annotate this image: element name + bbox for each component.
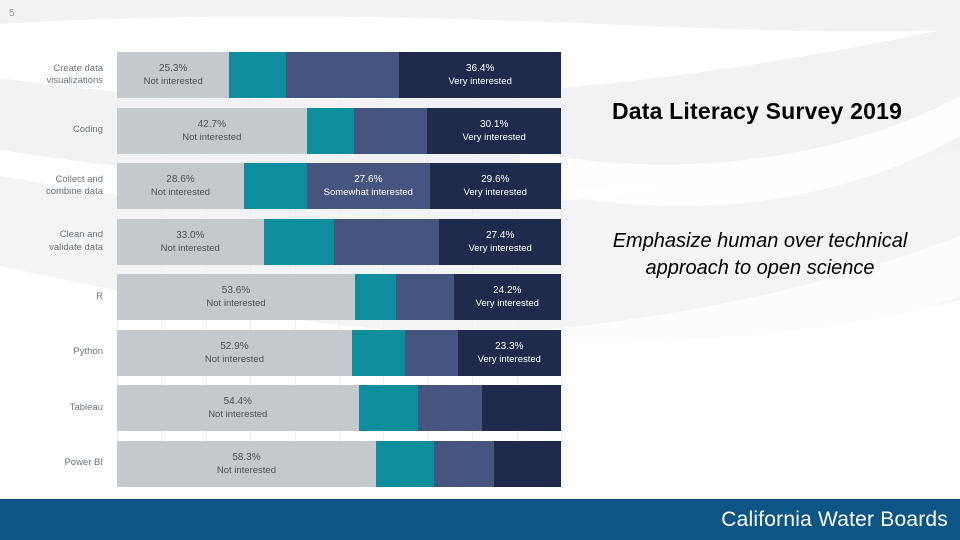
bar-segment-category: Very interested [462, 131, 525, 144]
bar-segment-very[interactable] [494, 441, 561, 487]
chart-bar: 25.3%Not interested36.4%Very interested [117, 52, 561, 98]
bar-segment-percent: 29.6% [481, 173, 509, 186]
chart-bar: 42.7%Not interested30.1%Very interested [117, 108, 561, 154]
bar-segment-category: Not interested [151, 186, 210, 199]
chart-bar: 54.4%Not interested [117, 385, 561, 431]
bar-segment-not[interactable]: 53.6%Not interested [117, 274, 355, 320]
bar-segment-percent: 27.4% [486, 229, 514, 242]
bar-segment-category: Somewhat interested [324, 186, 413, 199]
chart-row: Tableau54.4%Not interested [33, 385, 561, 431]
chart-row-label: Create data visualizations [33, 52, 109, 98]
bar-segment-category: Not interested [205, 353, 264, 366]
bar-segment-percent: 58.3% [232, 451, 260, 464]
bar-segment-somewhat[interactable] [334, 219, 440, 265]
bar-segment-not[interactable]: 28.6%Not interested [117, 163, 244, 209]
bar-segment-category: Very interested [476, 297, 539, 310]
bar-segment-percent: 33.0% [176, 229, 204, 242]
chart-row-label: Power BI [33, 441, 109, 487]
bar-segment-percent: 30.1% [480, 118, 508, 131]
bar-segment-category: Not interested [144, 75, 203, 88]
bar-segment-not[interactable]: 52.9%Not interested [117, 330, 352, 376]
bar-segment-percent: 53.6% [222, 284, 250, 297]
bar-segment-very[interactable]: 27.4%Very interested [439, 219, 561, 265]
bar-segment-percent: 23.3% [495, 340, 523, 353]
chart-row-label: Collect and combine data [33, 163, 109, 209]
bar-segment-percent: 54.4% [224, 395, 252, 408]
footer-band: California Water Boards [0, 499, 960, 540]
bar-segment-very[interactable] [482, 385, 561, 431]
bar-segment-slightly[interactable] [229, 52, 286, 98]
bar-segment-category: Not interested [208, 408, 267, 421]
bar-segment-slightly[interactable] [264, 219, 334, 265]
bar-segment-slightly[interactable] [307, 108, 354, 154]
bar-segment-very[interactable]: 23.3%Very interested [458, 330, 561, 376]
chart-bar: 28.6%Not interested27.6%Somewhat interes… [117, 163, 561, 209]
bar-segment-not[interactable]: 42.7%Not interested [117, 108, 307, 154]
chart-row: Clean and validate data33.0%Not interest… [33, 219, 561, 265]
bar-segment-category: Very interested [448, 75, 511, 88]
stacked-bar-chart: Create data visualizations25.3%Not inter… [33, 52, 561, 494]
chart-row: Coding42.7%Not interested30.1%Very inter… [33, 108, 561, 154]
bar-segment-percent: 25.3% [159, 62, 187, 75]
bar-segment-slightly[interactable] [359, 385, 419, 431]
bar-segment-not[interactable]: 25.3%Not interested [117, 52, 229, 98]
bar-segment-very[interactable]: 24.2%Very interested [454, 274, 561, 320]
bar-segment-somewhat[interactable]: 27.6%Somewhat interested [307, 163, 430, 209]
bar-segment-category: Very interested [464, 186, 527, 199]
bar-segment-slightly[interactable] [352, 330, 405, 376]
bar-segment-slightly[interactable] [244, 163, 307, 209]
chart-row: Power BI58.3%Not interested [33, 441, 561, 487]
takeaway-text: Emphasize human over technical approach … [590, 228, 930, 282]
bar-segment-not[interactable]: 33.0%Not interested [117, 219, 264, 265]
chart-row: Collect and combine data28.6%Not interes… [33, 163, 561, 209]
bar-segment-not[interactable]: 58.3%Not interested [117, 441, 376, 487]
bar-segment-somewhat[interactable] [354, 108, 428, 154]
chart-bar: 52.9%Not interested23.3%Very interested [117, 330, 561, 376]
slide-canvas: 5 Create data visualizations25.3%Not int… [0, 0, 960, 540]
chart-bar: 33.0%Not interested27.4%Very interested [117, 219, 561, 265]
bar-segment-category: Very interested [468, 242, 531, 255]
bar-segment-category: Not interested [217, 464, 276, 477]
bar-segment-somewhat[interactable] [396, 274, 454, 320]
bar-segment-category: Not interested [206, 297, 265, 310]
bar-segment-percent: 42.7% [198, 118, 226, 131]
bar-segment-percent: 36.4% [466, 62, 494, 75]
bar-segment-percent: 52.9% [220, 340, 248, 353]
bar-segment-percent: 28.6% [166, 173, 194, 186]
bar-segment-very[interactable]: 30.1%Very interested [427, 108, 561, 154]
chart-row-label: Tableau [33, 385, 109, 431]
bar-segment-very[interactable]: 36.4%Very interested [399, 52, 561, 98]
bar-segment-category: Not interested [182, 131, 241, 144]
chart-row-label: Clean and validate data [33, 219, 109, 265]
bar-segment-percent: 24.2% [493, 284, 521, 297]
chart-bar: 58.3%Not interested [117, 441, 561, 487]
bar-segment-very[interactable]: 29.6%Very interested [430, 163, 561, 209]
chart-row: Create data visualizations25.3%Not inter… [33, 52, 561, 98]
page-number: 5 [9, 8, 15, 19]
bar-segment-slightly[interactable] [376, 441, 435, 487]
bar-segment-somewhat[interactable] [405, 330, 457, 376]
bar-segment-not[interactable]: 54.4%Not interested [117, 385, 359, 431]
bar-segment-category: Not interested [161, 242, 220, 255]
page-title: Data Literacy Survey 2019 [562, 98, 952, 125]
chart-plot-area: Create data visualizations25.3%Not inter… [33, 52, 561, 494]
footer-brand-text: California Water Boards [721, 508, 948, 532]
bar-segment-percent: 27.6% [354, 173, 382, 186]
bar-segment-slightly[interactable] [355, 274, 396, 320]
chart-row: Python52.9%Not interested23.3%Very inter… [33, 330, 561, 376]
bar-segment-somewhat[interactable] [286, 52, 399, 98]
chart-row: R53.6%Not interested24.2%Very interested [33, 274, 561, 320]
chart-row-label: Coding [33, 108, 109, 154]
bar-segment-category: Very interested [478, 353, 541, 366]
bar-segment-somewhat[interactable] [434, 441, 494, 487]
chart-row-label: R [33, 274, 109, 320]
chart-row-label: Python [33, 330, 109, 376]
chart-bar: 53.6%Not interested24.2%Very interested [117, 274, 561, 320]
bar-segment-somewhat[interactable] [418, 385, 481, 431]
